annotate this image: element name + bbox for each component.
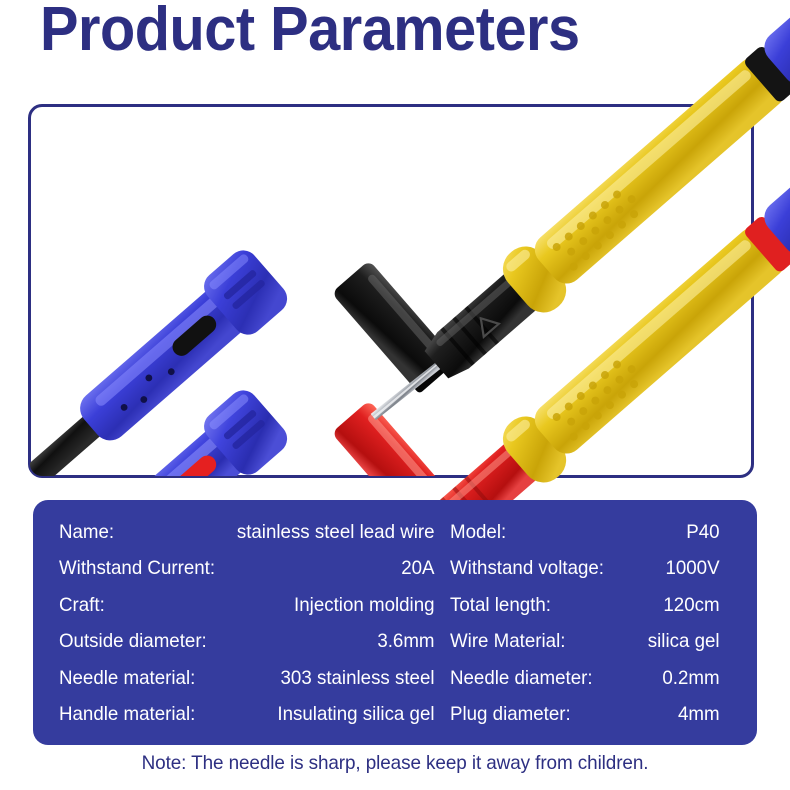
spec-cell-wire-material: Wire Material: silica gel bbox=[450, 632, 720, 652]
spec-cell-needle-material: Needle material: 303 stainless steel bbox=[59, 669, 435, 689]
spec-value: silica gel bbox=[566, 632, 720, 652]
spec-row: Outside diameter: 3.6mm Wire Material: s… bbox=[59, 624, 731, 661]
page-title: Product Parameters bbox=[40, 0, 580, 65]
spec-cell-model: Model: P40 bbox=[450, 523, 720, 543]
spec-cell-plug-diameter: Plug diameter: 4mm bbox=[450, 705, 720, 725]
spec-value: 20A bbox=[215, 559, 434, 579]
spec-row: Name: stainless steel lead wire Model: P… bbox=[59, 514, 731, 551]
spec-value: Insulating silica gel bbox=[195, 705, 434, 725]
spec-label: Needle material: bbox=[59, 669, 195, 689]
product-image-frame bbox=[28, 104, 754, 478]
spec-label: Model: bbox=[450, 523, 506, 543]
spec-row: Needle material: 303 stainless steel Nee… bbox=[59, 660, 731, 697]
spec-value: Injection molding bbox=[105, 596, 435, 616]
spec-value: 1000V bbox=[604, 559, 720, 579]
spec-label: Needle diameter: bbox=[450, 669, 593, 689]
spec-value: 303 stainless steel bbox=[195, 669, 434, 689]
spec-cell-withstand-voltage: Withstand voltage: 1000V bbox=[450, 559, 720, 579]
spec-label: Withstand Current: bbox=[59, 559, 215, 579]
safety-note: Note: The needle is sharp, please keep i… bbox=[12, 752, 778, 775]
spec-label: Craft: bbox=[59, 596, 105, 616]
spec-cell-craft: Craft: Injection molding bbox=[59, 596, 435, 616]
spec-panel: Name: stainless steel lead wire Model: P… bbox=[33, 500, 757, 745]
spec-label: Handle material: bbox=[59, 705, 195, 725]
spec-cell-needle-diameter: Needle diameter: 0.2mm bbox=[450, 669, 720, 689]
spec-value: 0.2mm bbox=[593, 669, 720, 689]
spec-label: Plug diameter: bbox=[450, 705, 571, 725]
spec-value: 3.6mm bbox=[207, 632, 435, 652]
spec-cell-handle-material: Handle material: Insulating silica gel bbox=[59, 705, 435, 725]
spec-value: 4mm bbox=[571, 705, 720, 725]
spec-cell-name: Name: stainless steel lead wire bbox=[59, 523, 435, 543]
spec-label: Total length: bbox=[450, 596, 551, 616]
spec-value: stainless steel lead wire bbox=[114, 523, 434, 543]
spec-cell-withstand-current: Withstand Current: 20A bbox=[59, 559, 435, 579]
spec-value: 120cm bbox=[551, 596, 720, 616]
spec-row: Withstand Current: 20A Withstand voltage… bbox=[59, 551, 731, 588]
spec-label: Withstand voltage: bbox=[450, 559, 604, 579]
spec-value: P40 bbox=[506, 523, 719, 543]
spec-label: Wire Material: bbox=[450, 632, 565, 652]
spec-label: Name: bbox=[59, 523, 114, 543]
spec-row: Craft: Injection molding Total length: 1… bbox=[59, 587, 731, 624]
spec-row: Handle material: Insulating silica gel P… bbox=[59, 697, 731, 734]
spec-cell-outside-diameter: Outside diameter: 3.6mm bbox=[59, 632, 435, 652]
spec-cell-total-length: Total length: 120cm bbox=[450, 596, 720, 616]
spec-label: Outside diameter: bbox=[59, 632, 207, 652]
